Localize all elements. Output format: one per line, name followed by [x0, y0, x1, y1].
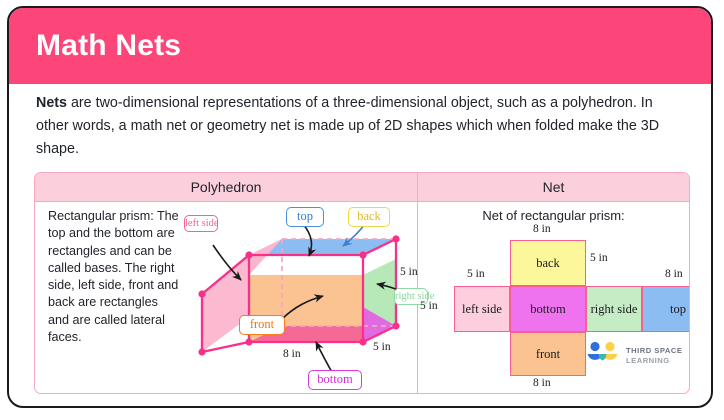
- net-cell-top-label: top: [670, 302, 686, 316]
- label-top-text: top: [297, 209, 313, 223]
- polyhedron-description: Rectangular prism: The top and the botto…: [48, 208, 180, 346]
- label-back-text: back: [357, 209, 381, 223]
- page-header: Math Nets: [9, 8, 711, 84]
- comparison-table: Polyhedron Net Rectangular prism: The to…: [34, 172, 690, 394]
- net-dim-left-side-top: 5 in: [467, 268, 485, 280]
- net-cell-right-side-label: right side: [591, 302, 638, 316]
- label-back: back: [348, 207, 390, 227]
- net-cell-back-label: back: [536, 256, 560, 270]
- table-body-row: Rectangular prism: The top and the botto…: [35, 202, 689, 394]
- net-dim-front-bottom: 8 in: [533, 377, 551, 389]
- label-bottom-text: bottom: [317, 372, 352, 386]
- net-cell-back: back: [510, 240, 586, 286]
- label-front-text: front: [250, 317, 274, 331]
- net-cell-left-side: left side: [454, 286, 510, 332]
- label-top: top: [286, 207, 324, 227]
- intro-paragraph: Nets are two-dimensional representations…: [36, 92, 686, 161]
- net-cell-left-side-label: left side: [462, 302, 502, 316]
- prism-dim-depth: 5 in: [373, 341, 391, 353]
- table-header-row: Polyhedron Net: [35, 173, 689, 202]
- net-dim-top-top: 8 in: [665, 268, 683, 280]
- logo-wordmark: THIRD SPACE LEARNING: [626, 346, 682, 366]
- label-left-side: left side: [184, 215, 218, 232]
- net-cell-front-label: front: [536, 347, 560, 361]
- prism-dim-height: 5 in: [400, 266, 418, 278]
- net-cell-bottom: bottom: [510, 286, 586, 332]
- column-header-polyhedron: Polyhedron: [35, 173, 418, 201]
- net-dim-left-side-left: 5 in: [420, 300, 438, 312]
- logo-mark-icon: [586, 340, 622, 368]
- prism-svg: [183, 202, 418, 394]
- net-cell-top: top: [642, 286, 690, 332]
- net-dim-back-top: 8 in: [533, 223, 551, 235]
- page-title: Math Nets: [36, 29, 181, 63]
- intro-body-text: are two-dimensional representations of a…: [36, 95, 659, 157]
- cell-net: Net of rectangular prism: back left side…: [418, 202, 689, 394]
- label-left-side-text: left side: [185, 218, 219, 229]
- third-space-learning-logo: THIRD SPACE LEARNING: [586, 340, 690, 372]
- cell-polyhedron: Rectangular prism: The top and the botto…: [35, 202, 418, 394]
- lesson-card: Math Nets Nets are two-dimensional repre…: [7, 6, 713, 408]
- net-cell-front: front: [510, 332, 586, 376]
- intro-lead-word: Nets: [36, 95, 67, 111]
- label-bottom: bottom: [308, 370, 362, 390]
- rectangular-prism-diagram: left side top back front bottom: [183, 202, 418, 394]
- column-header-net: Net: [418, 173, 689, 201]
- logo-wordmark-line1: THIRD SPACE: [626, 346, 682, 356]
- net-cell-bottom-label: bottom: [530, 302, 565, 316]
- prism-dim-width: 8 in: [283, 348, 301, 360]
- net-dim-back-right: 5 in: [590, 252, 608, 264]
- net-cell-right-side: right side: [586, 286, 642, 332]
- logo-wordmark-line2: LEARNING: [626, 356, 682, 366]
- label-front: front: [239, 315, 285, 335]
